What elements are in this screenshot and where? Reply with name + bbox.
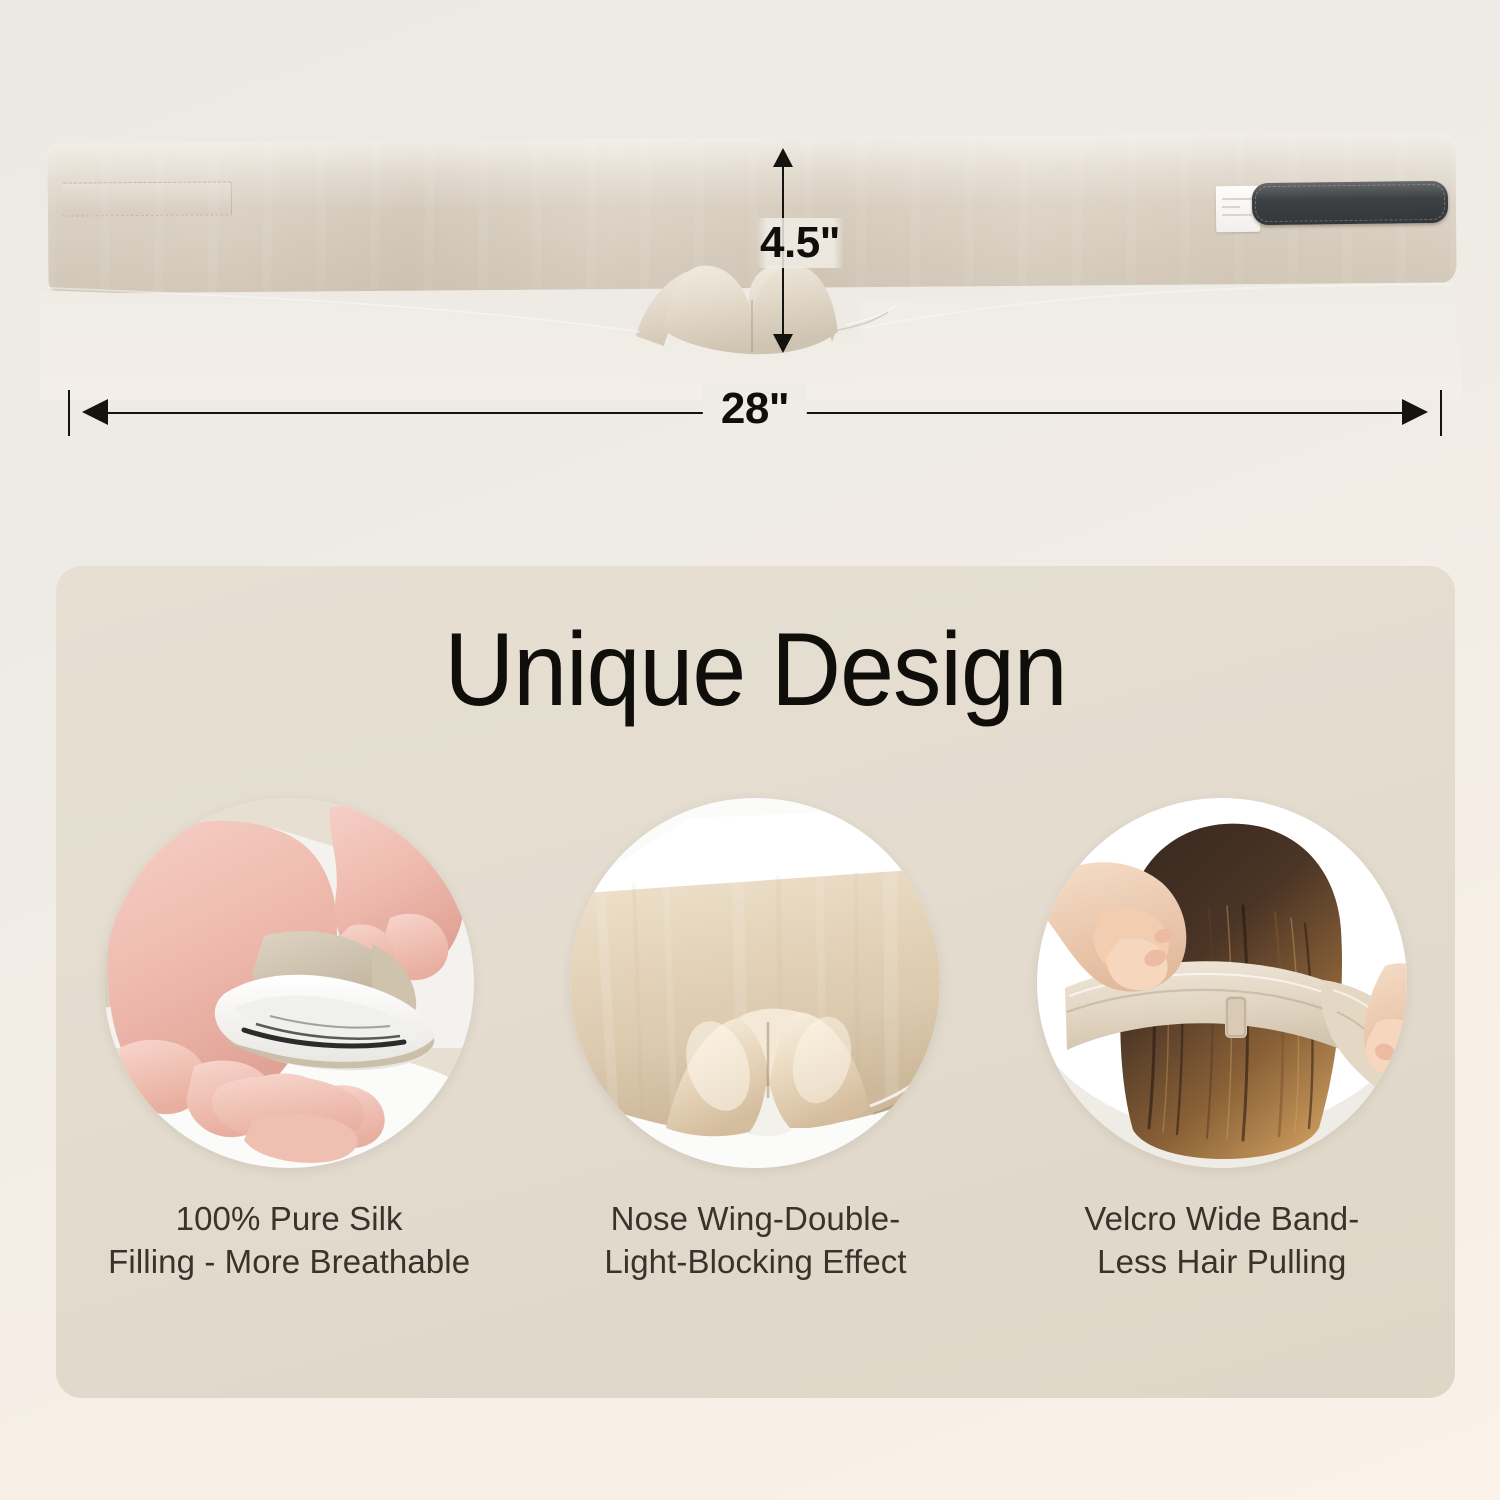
panel-title: Unique Design bbox=[105, 618, 1406, 722]
feature-photo-silk-filling bbox=[104, 798, 474, 1168]
feature-card-velcro-band: Velcro Wide Band- Less Hair Pulling bbox=[1022, 798, 1422, 1284]
feature-caption-nose-wing: Nose Wing-Double- Light-Blocking Effect bbox=[604, 1198, 906, 1284]
strap-loop bbox=[62, 181, 232, 216]
product-band-illustration bbox=[0, 0, 1500, 400]
caption-line-2: Light-Blocking Effect bbox=[604, 1241, 906, 1284]
height-dimension-label: 4.5" bbox=[756, 218, 844, 268]
feature-card-nose-wing: Nose Wing-Double- Light-Blocking Effect bbox=[555, 798, 955, 1284]
width-dimension-label: 28" bbox=[703, 384, 807, 434]
feature-photo-velcro-band bbox=[1037, 798, 1407, 1168]
dimension-tick-left bbox=[68, 390, 70, 436]
width-dimension-arrow: 28" bbox=[60, 390, 1450, 436]
product-dimension-hero: 4.5" 28" bbox=[0, 0, 1500, 560]
dimension-tick-right bbox=[1440, 390, 1442, 436]
feature-card-silk-filling: 100% Pure Silk Filling - More Breathable bbox=[89, 798, 489, 1284]
unique-design-panel: Unique Design bbox=[56, 566, 1455, 1398]
feature-card-list: 100% Pure Silk Filling - More Breathable bbox=[56, 798, 1455, 1284]
arrowhead-left-icon bbox=[82, 399, 108, 425]
caption-line-1: Velcro Wide Band- bbox=[1084, 1198, 1359, 1241]
feature-caption-silk-filling: 100% Pure Silk Filling - More Breathable bbox=[108, 1198, 470, 1284]
caption-line-2: Filling - More Breathable bbox=[108, 1241, 470, 1284]
caption-line-2: Less Hair Pulling bbox=[1084, 1241, 1359, 1284]
arrowhead-right-icon bbox=[1402, 399, 1428, 425]
caption-line-1: Nose Wing-Double- bbox=[604, 1198, 906, 1241]
velcro-strip bbox=[1252, 181, 1448, 225]
feature-photo-nose-wing bbox=[570, 798, 940, 1168]
caption-line-1: 100% Pure Silk bbox=[108, 1198, 470, 1241]
feature-caption-velcro-band: Velcro Wide Band- Less Hair Pulling bbox=[1084, 1198, 1359, 1284]
arrowhead-down-icon bbox=[773, 334, 793, 353]
